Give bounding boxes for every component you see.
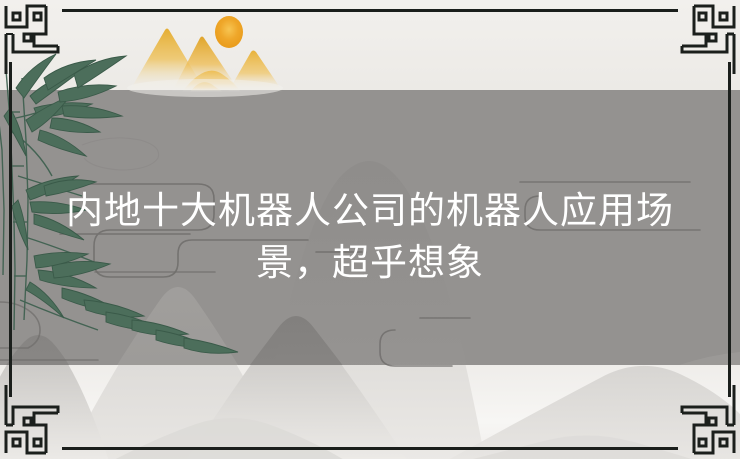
title-line-2: 景，超乎想象 (0, 237, 740, 289)
frame-line-right (728, 62, 731, 397)
frame-line-left (9, 62, 12, 397)
corner-ornament-top-left (2, 2, 78, 78)
corner-ornament-top-right (662, 2, 738, 78)
poster-canvas: 内地十大机器人公司的机器人应用场 景，超乎想象 (0, 0, 740, 459)
frame-line-bottom (62, 447, 678, 450)
corner-ornament-bottom-right (662, 381, 738, 457)
corner-ornament-bottom-left (2, 381, 78, 457)
frame-line-top (62, 9, 678, 12)
poster-title: 内地十大机器人公司的机器人应用场 景，超乎想象 (0, 185, 740, 289)
title-line-1: 内地十大机器人公司的机器人应用场 (0, 185, 740, 237)
